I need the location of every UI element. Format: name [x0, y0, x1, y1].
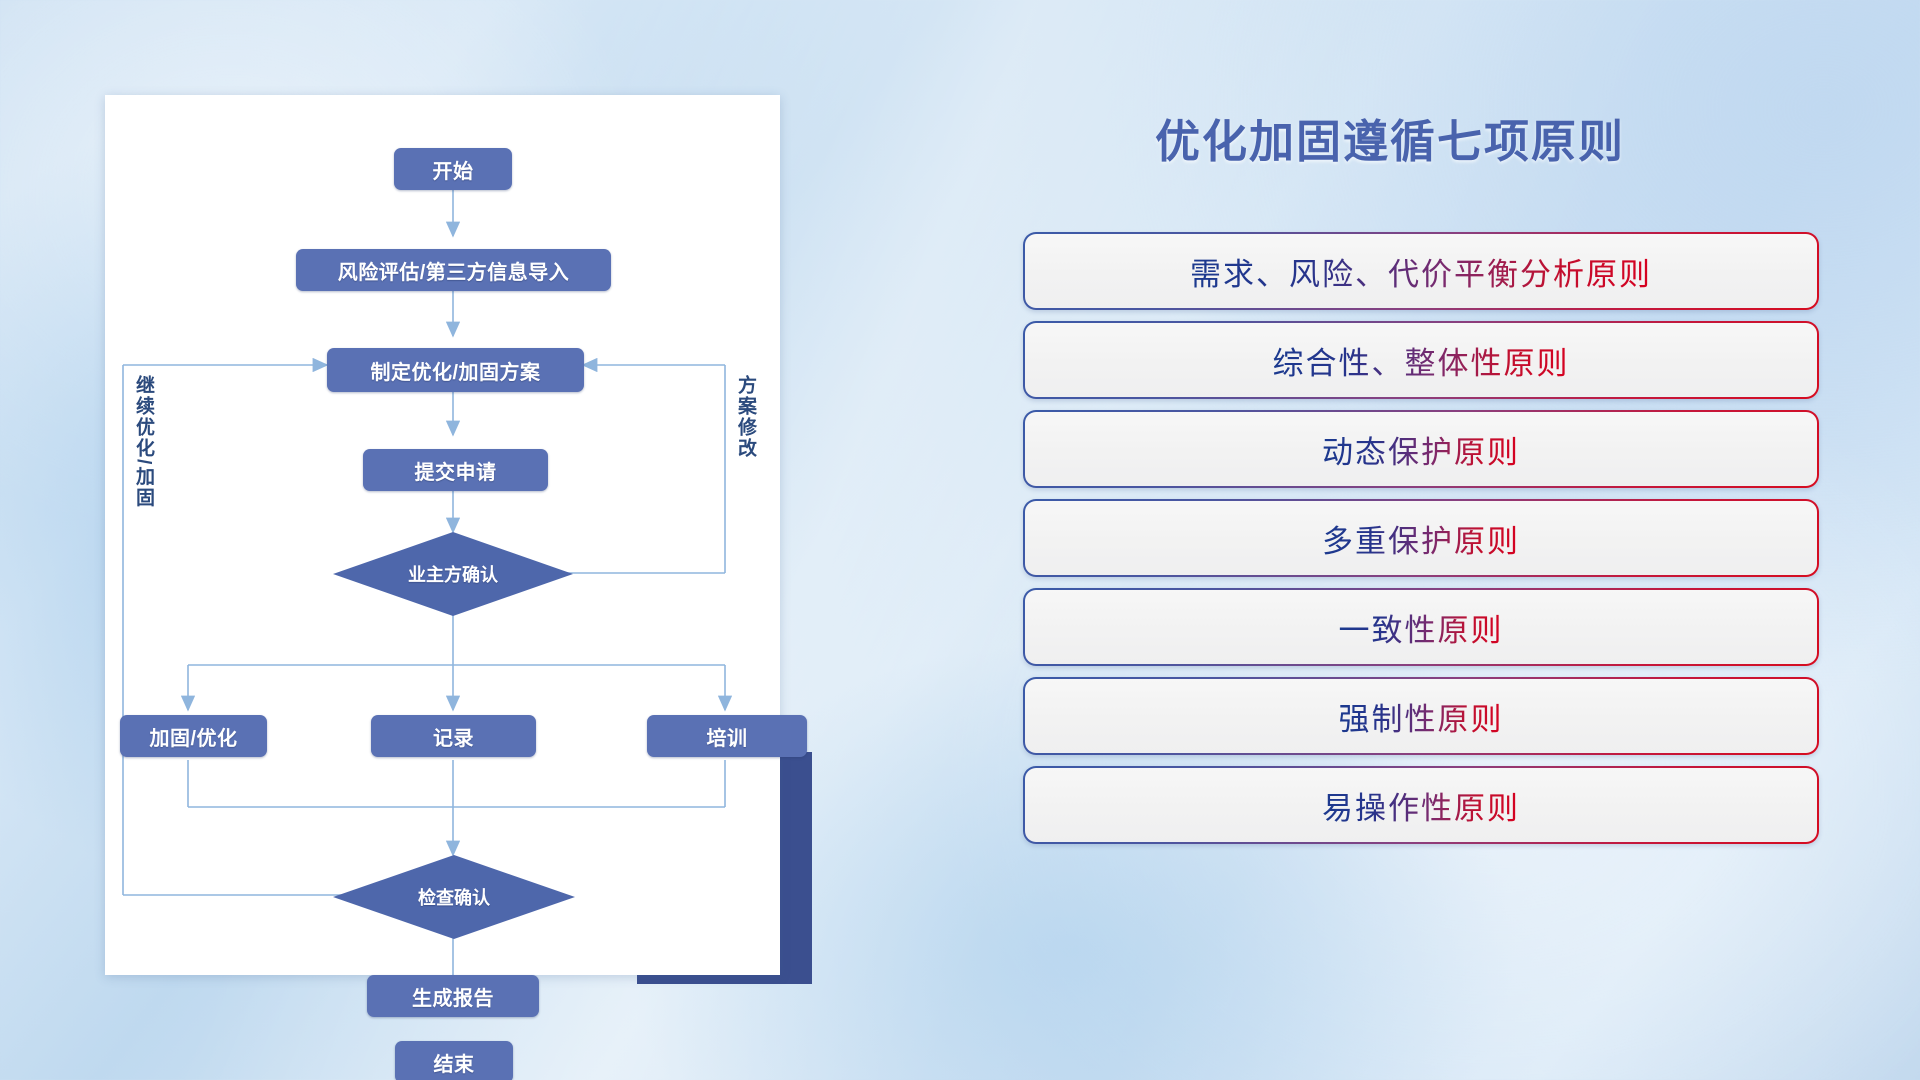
flow-edge-label-continue-optimize: 继续优化/加固	[133, 375, 153, 508]
flow-node-report-label: 生成报告	[412, 982, 494, 1011]
principle-item-1-label: 需求、风险、代价平衡分析原则	[1190, 249, 1652, 294]
flow-node-end-label: 结束	[434, 1048, 475, 1077]
flow-node-reinforce-label: 加固/优化	[149, 722, 237, 751]
flow-node-plan[interactable]: 制定优化/加固方案	[327, 348, 584, 392]
flow-decision-inspection-label: 检查确认	[418, 884, 490, 910]
principle-item-4-label: 多重保护原则	[1322, 516, 1520, 561]
list-item[interactable]: 动态保护原则	[1023, 410, 1819, 488]
flow-node-record[interactable]: 记录	[371, 715, 536, 757]
list-item[interactable]: 一致性原则	[1023, 588, 1819, 666]
flow-node-start[interactable]: 开始	[394, 148, 512, 190]
principle-item-2-label: 综合性、整体性原则	[1273, 338, 1570, 383]
principle-item-3-label: 动态保护原则	[1322, 427, 1520, 472]
principles-list: 需求、风险、代价平衡分析原则 综合性、整体性原则 动态保护原则 多重保护原则 一…	[1023, 232, 1819, 855]
flow-node-plan-label: 制定优化/加固方案	[370, 356, 540, 385]
page-title: 优化加固遵循七项原则	[1020, 105, 1760, 170]
flow-node-end[interactable]: 结束	[395, 1041, 513, 1080]
flow-node-training-label: 培训	[707, 722, 748, 751]
principle-item-1: 需求、风险、代价平衡分析原则	[1025, 234, 1817, 308]
flow-node-reinforce[interactable]: 加固/优化	[120, 715, 267, 757]
principle-item-7-label: 易操作性原则	[1322, 783, 1520, 828]
flow-node-training[interactable]: 培训	[647, 715, 807, 757]
list-item[interactable]: 综合性、整体性原则	[1023, 321, 1819, 399]
flowchart-diagram: 开始 风险评估/第三方信息导入 制定优化/加固方案 提交申请 业主方确认 加固/…	[105, 95, 780, 975]
principle-item-7: 易操作性原则	[1025, 768, 1817, 842]
list-item[interactable]: 多重保护原则	[1023, 499, 1819, 577]
flow-node-risk-assessment[interactable]: 风险评估/第三方信息导入	[296, 249, 611, 291]
list-item[interactable]: 强制性原则	[1023, 677, 1819, 755]
principle-item-4: 多重保护原则	[1025, 501, 1817, 575]
principle-item-6-label: 强制性原则	[1339, 694, 1504, 739]
flow-decision-owner-confirm-label: 业主方确认	[408, 561, 498, 587]
flow-node-submit[interactable]: 提交申请	[363, 449, 548, 491]
flow-edge-label-plan-revision: 方案修改	[735, 375, 755, 459]
flow-node-start-label: 开始	[433, 155, 474, 184]
principle-item-3: 动态保护原则	[1025, 412, 1817, 486]
flow-node-submit-label: 提交申请	[415, 456, 497, 485]
principle-item-5-label: 一致性原则	[1339, 605, 1504, 650]
flow-node-risk-assessment-label: 风险评估/第三方信息导入	[338, 256, 570, 285]
flowchart-connectors	[105, 95, 780, 975]
principle-item-5: 一致性原则	[1025, 590, 1817, 664]
flow-node-report[interactable]: 生成报告	[367, 975, 539, 1017]
list-item[interactable]: 需求、风险、代价平衡分析原则	[1023, 232, 1819, 310]
principle-item-6: 强制性原则	[1025, 679, 1817, 753]
principle-item-2: 综合性、整体性原则	[1025, 323, 1817, 397]
flow-node-record-label: 记录	[433, 722, 474, 751]
list-item[interactable]: 易操作性原则	[1023, 766, 1819, 844]
flowchart-card: 开始 风险评估/第三方信息导入 制定优化/加固方案 提交申请 业主方确认 加固/…	[105, 95, 780, 975]
